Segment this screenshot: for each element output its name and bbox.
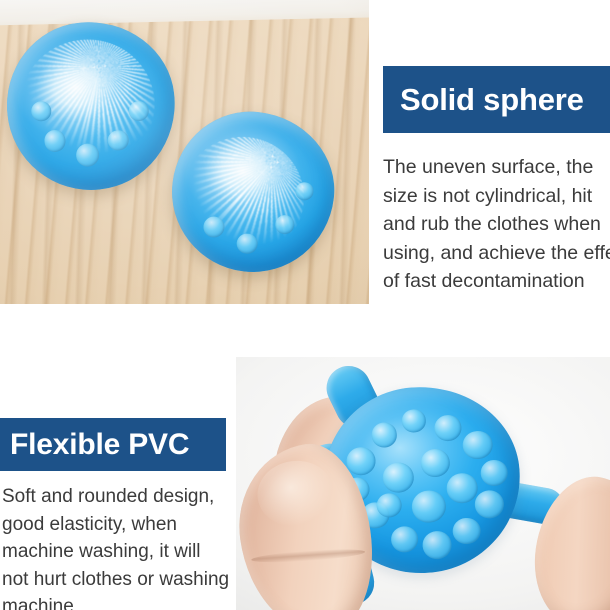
section-body-flexible-pvc: Soft and rounded design, good elasticity…: [2, 483, 232, 610]
text-panel-flexible-pvc: Flexible PVC Soft and rounded design, go…: [0, 418, 232, 610]
thumb-knuckle-crease: [251, 547, 366, 565]
section-heading-solid-sphere: Solid sphere: [383, 66, 610, 133]
infographic-page: Solid sphere The uneven surface, the siz…: [0, 0, 610, 610]
photo-vignette: [0, 0, 369, 304]
thumb-highlight: [254, 456, 338, 530]
section-body-solid-sphere: The uneven surface, the size is not cyli…: [383, 153, 610, 296]
section-heading-flexible-pvc: Flexible PVC: [0, 418, 226, 471]
product-photo-hand-squeezing-ball: [236, 357, 610, 610]
text-panel-solid-sphere: Solid sphere The uneven surface, the siz…: [383, 66, 610, 296]
product-photo-balls-on-wood: [0, 0, 369, 304]
